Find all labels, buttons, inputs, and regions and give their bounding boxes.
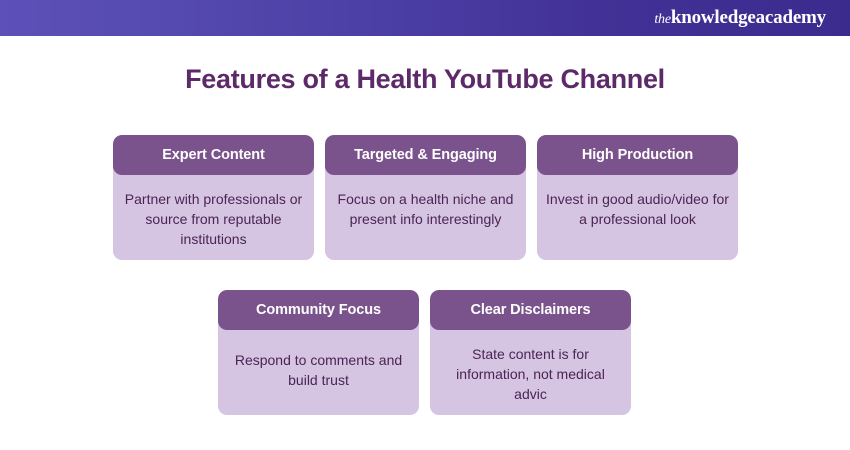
feature-card-body: Invest in good audio/video for a profess… <box>537 175 738 260</box>
page-title: Features of a Health YouTube Channel <box>0 64 850 95</box>
feature-card-community-focus: Community Focus Respond to comments and … <box>218 290 419 415</box>
feature-card-body: State content is for information, not me… <box>430 330 631 415</box>
feature-card-body: Focus on a health niche and present info… <box>325 175 526 260</box>
feature-card-heading: High Production <box>537 135 738 175</box>
brand-logo: theknowledgeacademy <box>654 7 826 29</box>
brand-banner: theknowledgeacademy <box>0 0 850 36</box>
feature-card-heading: Expert Content <box>113 135 314 175</box>
feature-card-expert-content: Expert Content Partner with professional… <box>113 135 314 260</box>
feature-card-clear-disclaimers: Clear Disclaimers State content is for i… <box>430 290 631 415</box>
card-row-top: Expert Content Partner with professional… <box>113 135 738 260</box>
feature-card-targeted-engaging: Targeted & Engaging Focus on a health ni… <box>325 135 526 260</box>
feature-card-heading: Clear Disclaimers <box>430 290 631 330</box>
card-row-bottom: Community Focus Respond to comments and … <box>218 290 631 415</box>
feature-card-heading: Targeted & Engaging <box>325 135 526 175</box>
brand-logo-name: knowledgeacademy <box>671 7 826 29</box>
feature-card-body: Respond to comments and build trust <box>218 330 419 415</box>
feature-card-body: Partner with professionals or source fro… <box>113 175 314 260</box>
feature-card-high-production: High Production Invest in good audio/vid… <box>537 135 738 260</box>
feature-card-heading: Community Focus <box>218 290 419 330</box>
brand-logo-prefix: the <box>654 12 671 28</box>
